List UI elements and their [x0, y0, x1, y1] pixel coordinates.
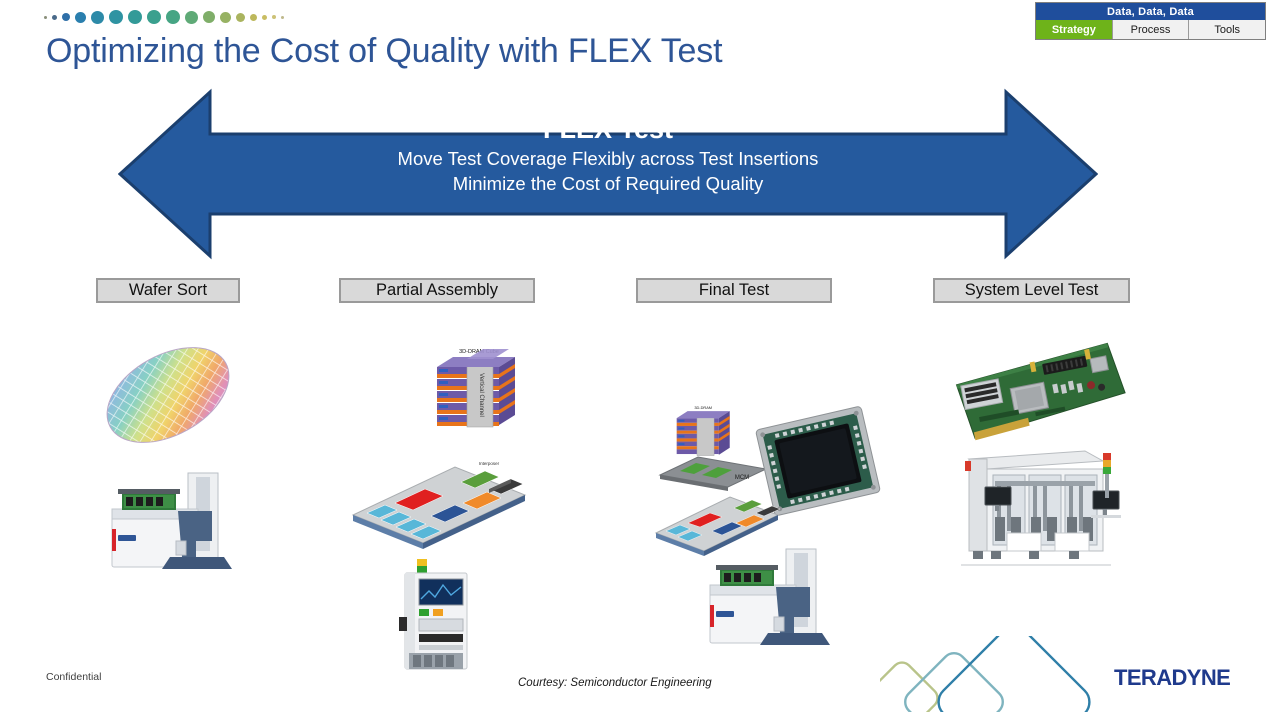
- gradient-dot-3: [75, 12, 86, 23]
- system-level-test-rack-icon: [951, 433, 1121, 573]
- stage-label-system-level-test: System Level Test: [933, 278, 1130, 303]
- stage-label-final-test: Final Test: [636, 278, 832, 303]
- gradient-dot-9: [185, 11, 198, 24]
- 3d-dram-cube-icon: 3D-DRAM Cube: [431, 345, 527, 441]
- gradient-dot-16: [281, 16, 284, 19]
- flex-test-handler-icon: [100, 471, 236, 581]
- gradient-dot-11: [220, 12, 231, 23]
- gradient-dot-2: [62, 13, 70, 21]
- page-title: Optimizing the Cost of Quality with FLEX…: [46, 32, 722, 71]
- dot-gradient-decoration: [44, 8, 284, 26]
- stage-art-final-test: 3D-DRAM MCM: [636, 303, 832, 663]
- banner-line-1: Move Test Coverage Flexibly across Test …: [118, 146, 1098, 172]
- stage-final-test: Final Test: [636, 278, 832, 663]
- gradient-dot-12: [236, 13, 245, 22]
- gradient-dot-14: [262, 15, 267, 20]
- courtesy-credit: Courtesy: Semiconductor Engineering: [518, 677, 712, 689]
- stage-art-wafer-sort: [96, 303, 240, 633]
- gradient-dot-0: [44, 16, 47, 19]
- diamond-outline-decoration: [880, 636, 1120, 712]
- stage-art-system-level-test: [933, 303, 1130, 613]
- flex-test-handler-icon: [698, 547, 834, 657]
- multi-chip-module-substrate-icon: Interposer: [339, 443, 535, 553]
- confidential-notice: Confidential: [46, 671, 101, 683]
- gradient-dot-15: [272, 15, 276, 19]
- gradient-dot-7: [147, 10, 161, 24]
- tab-strategy[interactable]: Strategy: [1036, 20, 1113, 39]
- gradient-dot-4: [91, 11, 104, 24]
- gradient-dot-13: [250, 14, 257, 21]
- flex-test-arrow-banner: FLEX Test Move Test Coverage Flexibly ac…: [118, 88, 1098, 260]
- tester-cabinet-icon: [395, 551, 481, 673]
- banner-text-block: FLEX Test Move Test Coverage Flexibly ac…: [118, 114, 1098, 197]
- gradient-dot-5: [109, 10, 123, 24]
- stage-art-partial-assembly: 3D-DRAM Cube: [339, 303, 535, 683]
- slide-canvas: Data, Data, Data Strategy Process Tools …: [0, 0, 1268, 712]
- green-pcb-card-icon: [945, 335, 1135, 445]
- stage-system-level-test: System Level Test: [933, 278, 1130, 613]
- vertical-channel-label: Vertical Channel: [478, 373, 484, 417]
- stage-partial-assembly: Partial Assembly 3D-DRAM Cube: [339, 278, 535, 683]
- svg-text:3D-DRAM: 3D-DRAM: [694, 405, 712, 410]
- gradient-dot-6: [128, 10, 142, 24]
- stage-label-wafer-sort: Wafer Sort: [96, 278, 240, 303]
- gradient-dot-1: [52, 15, 57, 20]
- teradyne-wordmark: TERADYNE: [1114, 665, 1230, 691]
- stage-wafer-sort: Wafer Sort: [96, 278, 240, 633]
- silicon-wafer-icon: [96, 343, 240, 443]
- substrate-annotation: Interposer: [479, 461, 500, 466]
- stage-label-partial-assembly: Partial Assembly: [339, 278, 535, 303]
- gradient-dot-8: [166, 10, 180, 24]
- tab-tools[interactable]: Tools: [1189, 20, 1265, 39]
- banner-heading: FLEX Test: [118, 114, 1098, 146]
- data-data-data-widget: Data, Data, Data Strategy Process Tools: [1035, 2, 1266, 40]
- widget-title: Data, Data, Data: [1036, 3, 1265, 20]
- banner-line-2: Minimize the Cost of Required Quality: [118, 171, 1098, 197]
- gradient-dot-10: [203, 11, 215, 23]
- teradyne-diamond-mark: [880, 636, 1120, 712]
- widget-tab-bar: Strategy Process Tools: [1036, 20, 1265, 39]
- tab-process[interactable]: Process: [1113, 20, 1190, 39]
